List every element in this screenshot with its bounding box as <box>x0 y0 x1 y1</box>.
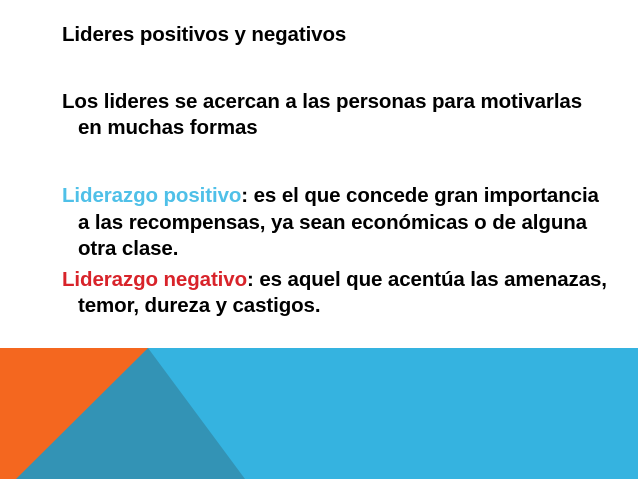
point-positive: Liderazgo positivo: es el que concede gr… <box>62 183 608 263</box>
spacer <box>62 49 608 89</box>
slide-content: Lideres positivos y negativos Los lidere… <box>0 0 638 320</box>
slide-canvas: Lideres positivos y negativos Los lidere… <box>0 0 638 479</box>
decoration-svg <box>0 348 638 479</box>
intro-paragraph: Los lideres se acercan a las personas pa… <box>62 89 608 142</box>
term-separator: : <box>241 184 253 207</box>
page-title: Lideres positivos y negativos <box>62 22 608 49</box>
bottom-decoration-band <box>0 348 638 479</box>
term-separator: : <box>247 268 259 291</box>
term-liderazgo-negativo: Liderazgo negativo <box>62 268 247 291</box>
spacer <box>62 142 608 183</box>
term-liderazgo-positivo: Liderazgo positivo <box>62 184 241 207</box>
point-negative: Liderazgo negativo: es aquel que acentúa… <box>62 267 608 320</box>
